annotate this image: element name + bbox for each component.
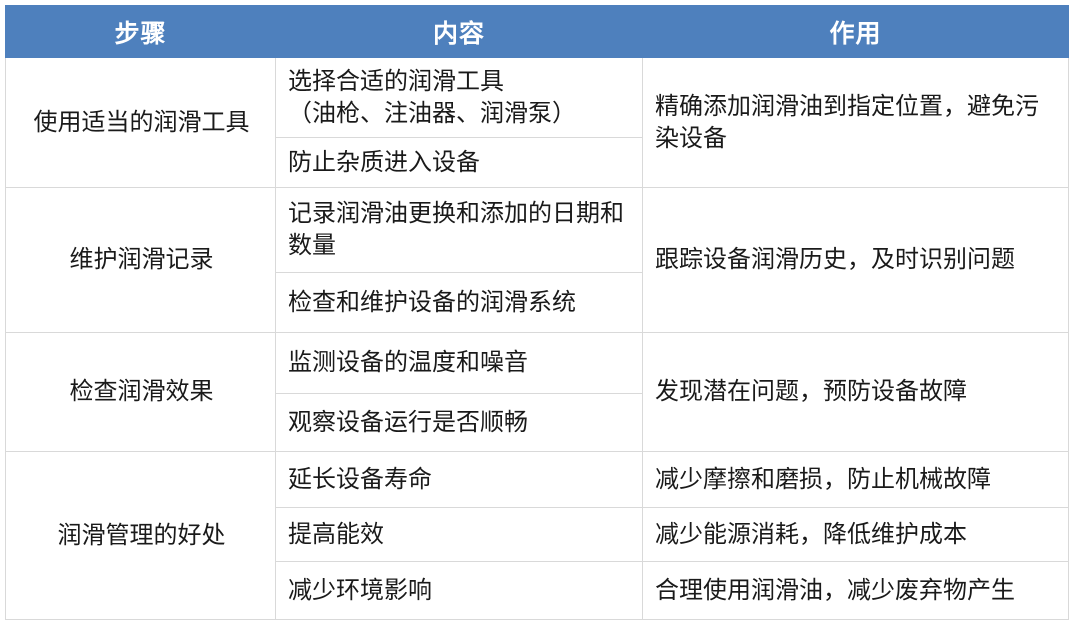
content-cell: 延长设备寿命	[276, 452, 643, 508]
effect-cell: 发现潜在问题，预防设备故障	[643, 333, 1069, 452]
header-row: 步骤 内容 作用	[6, 6, 1069, 58]
table-body: 使用适当的润滑工具 选择合适的润滑工具（油枪、注油器、润滑泵） 精确添加润滑油到…	[6, 58, 1069, 620]
content-cell: 防止杂质进入设备	[276, 138, 643, 188]
content-cell: 观察设备运行是否顺畅	[276, 394, 643, 452]
table-header: 步骤 内容 作用	[6, 6, 1069, 58]
column-header-step: 步骤	[6, 6, 276, 58]
step-cell: 维护润滑记录	[6, 188, 276, 333]
effect-cell: 精确添加润滑油到指定位置，避免污染设备	[643, 58, 1069, 188]
table-row: 维护润滑记录 记录润滑油更换和添加的日期和数量 跟踪设备润滑历史，及时识别问题	[6, 188, 1069, 273]
table-row: 检查润滑效果 监测设备的温度和噪音 发现潜在问题，预防设备故障	[6, 333, 1069, 394]
column-header-content: 内容	[276, 6, 643, 58]
lubrication-steps-table: 步骤 内容 作用 使用适当的润滑工具 选择合适的润滑工具（油枪、注油器、润滑泵）…	[5, 5, 1069, 620]
content-cell: 减少环境影响	[276, 562, 643, 620]
content-cell: 选择合适的润滑工具（油枪、注油器、润滑泵）	[276, 58, 643, 138]
content-cell: 检查和维护设备的润滑系统	[276, 273, 643, 333]
column-header-effect: 作用	[643, 6, 1069, 58]
content-cell: 记录润滑油更换和添加的日期和数量	[276, 188, 643, 273]
content-cell: 提高能效	[276, 508, 643, 562]
table-row: 润滑管理的好处 延长设备寿命 减少摩擦和磨损，防止机械故障	[6, 452, 1069, 508]
content-cell: 监测设备的温度和噪音	[276, 333, 643, 394]
step-cell: 使用适当的润滑工具	[6, 58, 276, 188]
effect-cell: 合理使用润滑油，减少废弃物产生	[643, 562, 1069, 620]
step-cell: 润滑管理的好处	[6, 452, 276, 620]
effect-cell: 减少能源消耗，降低维护成本	[643, 508, 1069, 562]
effect-cell: 减少摩擦和磨损，防止机械故障	[643, 452, 1069, 508]
table-row: 使用适当的润滑工具 选择合适的润滑工具（油枪、注油器、润滑泵） 精确添加润滑油到…	[6, 58, 1069, 138]
effect-cell: 跟踪设备润滑历史，及时识别问题	[643, 188, 1069, 333]
step-cell: 检查润滑效果	[6, 333, 276, 452]
lubrication-table-container: 步骤 内容 作用 使用适当的润滑工具 选择合适的润滑工具（油枪、注油器、润滑泵）…	[5, 5, 1068, 621]
